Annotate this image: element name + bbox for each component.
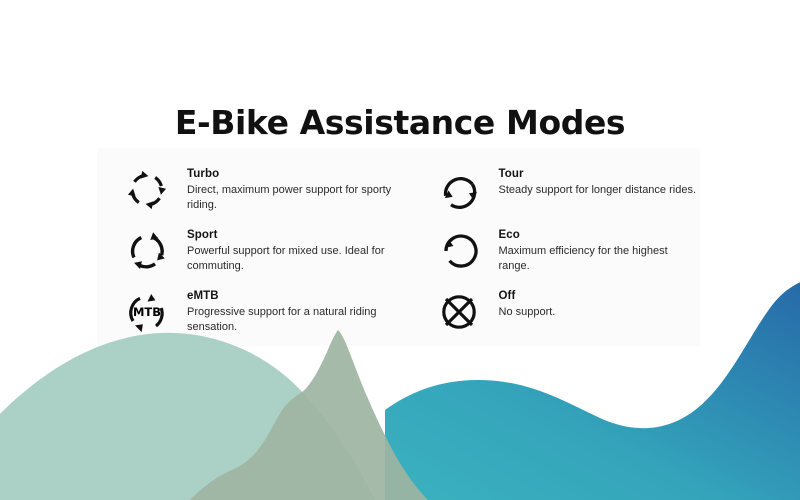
mtb-circle-arrow-icon: MTB xyxy=(123,288,171,336)
crossed-circle-icon xyxy=(435,288,483,336)
three-arrow-circle-icon xyxy=(123,227,171,275)
single-arrow-circle-icon xyxy=(435,227,483,275)
mode-item-turbo[interactable]: Turbo Direct, maximum power support for … xyxy=(123,164,399,225)
mode-item-tour[interactable]: Tour Steady support for longer distance … xyxy=(435,164,701,225)
mint-hill-shape xyxy=(0,333,375,500)
mode-text-eco: Eco Maximum efficiency for the highest r… xyxy=(499,225,701,273)
two-arrow-circle-icon xyxy=(435,166,483,214)
modes-column-left: Turbo Direct, maximum power support for … xyxy=(97,148,399,346)
mode-name: Eco xyxy=(499,228,701,242)
mode-name: Tour xyxy=(499,167,697,181)
mode-text-off: Off No support. xyxy=(499,286,556,320)
infographic-canvas: E-Bike Assistance Modes xyxy=(0,0,800,500)
modes-column-right: Tour Steady support for longer distance … xyxy=(399,148,701,346)
mode-item-emtb[interactable]: MTB eMTB Progressive support for a natur… xyxy=(123,286,399,347)
mode-text-emtb: eMTB Progressive support for a natural r… xyxy=(187,286,399,334)
modes-grid: Turbo Direct, maximum power support for … xyxy=(97,148,700,346)
mode-text-tour: Tour Steady support for longer distance … xyxy=(499,164,697,198)
four-arrow-circle-icon xyxy=(123,166,171,214)
mode-text-sport: Sport Powerful support for mixed use. Id… xyxy=(187,225,399,273)
mode-name: Turbo xyxy=(187,167,399,181)
mtb-inner-label: MTB xyxy=(133,305,161,319)
mode-name: eMTB xyxy=(187,289,399,303)
mode-description: Steady support for longer distance rides… xyxy=(499,183,697,198)
mode-description: Powerful support for mixed use. Ideal fo… xyxy=(187,244,399,273)
mode-description: Maximum efficiency for the highest range… xyxy=(499,244,701,273)
mode-item-eco[interactable]: Eco Maximum efficiency for the highest r… xyxy=(435,225,701,286)
page-title: E-Bike Assistance Modes xyxy=(0,103,800,142)
mode-name: Off xyxy=(499,289,556,303)
mode-description: Direct, maximum power support for sporty… xyxy=(187,183,399,212)
mode-item-off[interactable]: Off No support. xyxy=(435,286,701,347)
mode-name: Sport xyxy=(187,228,399,242)
mode-item-sport[interactable]: Sport Powerful support for mixed use. Id… xyxy=(123,225,399,286)
mode-description: No support. xyxy=(499,305,556,320)
mountain-peak-shape xyxy=(190,330,428,500)
mode-text-turbo: Turbo Direct, maximum power support for … xyxy=(187,164,399,212)
mode-description: Progressive support for a natural riding… xyxy=(187,305,399,334)
